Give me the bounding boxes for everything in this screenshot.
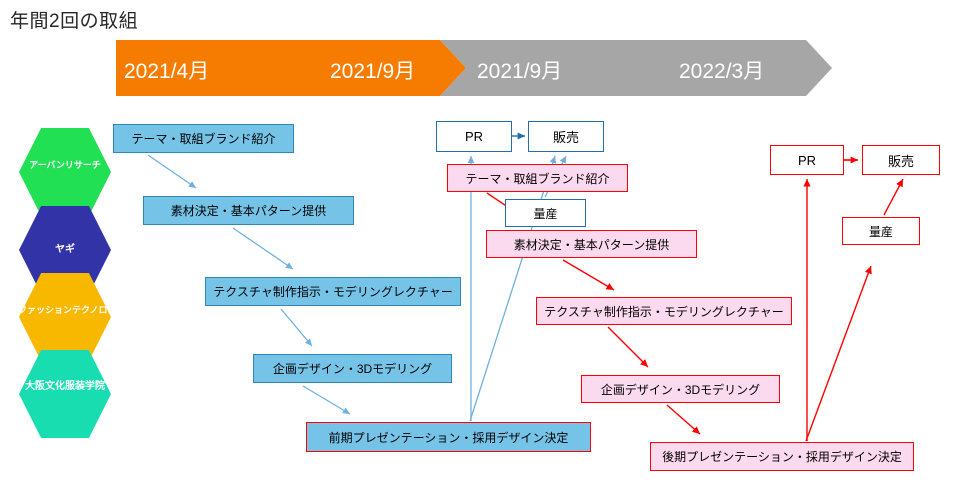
node-fh-theme[interactable]: テーマ・取組ブランド紹介 [113, 124, 294, 153]
node-fh-sales[interactable]: 販売 [528, 121, 604, 152]
hexagon-osaka-bunka-fukuso-gakuin[interactable] [19, 350, 111, 438]
node-label: PR [798, 153, 816, 168]
node-sh-massproduction[interactable]: 量産 [842, 217, 920, 245]
node-sh-theme[interactable]: テーマ・取組ブランド紹介 [447, 164, 628, 192]
node-label: テクスチャ制作指示・モデリングレクチャー [544, 303, 783, 320]
node-label: 素材決定・基本パターン提供 [514, 236, 669, 253]
node-sh-texture[interactable]: テクスチャ制作指示・モデリングレクチャー [536, 297, 792, 325]
connector-red-massproduction-to-sales [884, 179, 903, 215]
node-label: PR [465, 129, 483, 144]
connector-red-material-to-texture [563, 260, 614, 290]
node-label: 企画デザイン・3Dモデリング [273, 360, 432, 377]
connector-blue-presentation-to-sales [470, 156, 555, 421]
connector-blue-design-to-presentation [303, 386, 350, 414]
node-fh-texture[interactable]: テクスチャ制作指示・モデリングレクチャー [205, 277, 461, 306]
node-sh-sales[interactable]: 販売 [862, 145, 940, 175]
connector-blue-material-to-texture [233, 228, 293, 269]
node-label: 前期プレゼンテーション・採用デザイン決定 [329, 429, 569, 446]
node-sh-pr[interactable]: PR [770, 145, 844, 175]
node-label: 後期プレゼンテーション・採用デザイン決定 [662, 448, 902, 465]
connector-blue-texture-to-design [281, 309, 312, 346]
node-sh-material[interactable]: 素材決定・基本パターン提供 [486, 230, 697, 258]
node-label: テーマ・取組ブランド紹介 [465, 170, 609, 187]
partner-hexagon-group [19, 128, 111, 438]
node-sh-presentation[interactable]: 後期プレゼンテーション・採用デザイン決定 [650, 442, 914, 471]
node-label: 企画デザイン・3Dモデリング [601, 381, 760, 398]
node-sh-design[interactable]: 企画デザイン・3Dモデリング [581, 375, 780, 403]
node-fh-design[interactable]: 企画デザイン・3Dモデリング [253, 354, 452, 383]
node-label: 販売 [888, 151, 914, 170]
node-fh-material[interactable]: 素材決定・基本パターン提供 [143, 196, 354, 225]
hexagon-urban-research[interactable] [19, 128, 111, 216]
timeline-label-2: 2021/9月 [330, 55, 415, 85]
connector-red-texture-to-design [608, 327, 648, 367]
connector-red-design-to-presentation [667, 405, 700, 434]
timeline-label-1: 2021/4月 [124, 55, 209, 85]
node-label: テクスチャ制作指示・モデリングレクチャー [213, 283, 452, 300]
node-fh-pr[interactable]: PR [436, 121, 512, 152]
timeline-label-4: 2022/3月 [679, 55, 764, 85]
node-fh-massproduction[interactable]: 量産 [505, 199, 586, 227]
slide-canvas: 年間2回の取組 2021/4月2021/9月2021/9 [0, 0, 960, 485]
node-fh-presentation[interactable]: 前期プレゼンテーション・採用デザイン決定 [306, 422, 591, 452]
hexagon-tokyo-fashion-technology-lab[interactable] [19, 273, 111, 361]
node-label: 量産 [869, 223, 893, 240]
timeline-label-3: 2021/9月 [477, 55, 562, 85]
node-label: テーマ・取組ブランド紹介 [131, 130, 275, 147]
node-label: 販売 [553, 127, 579, 146]
node-label: 素材決定・基本パターン提供 [171, 202, 326, 219]
connector-red-presentation-to-massproduction [806, 266, 871, 441]
connector-blue-theme-to-material [148, 155, 196, 188]
node-label: 量産 [533, 205, 557, 222]
